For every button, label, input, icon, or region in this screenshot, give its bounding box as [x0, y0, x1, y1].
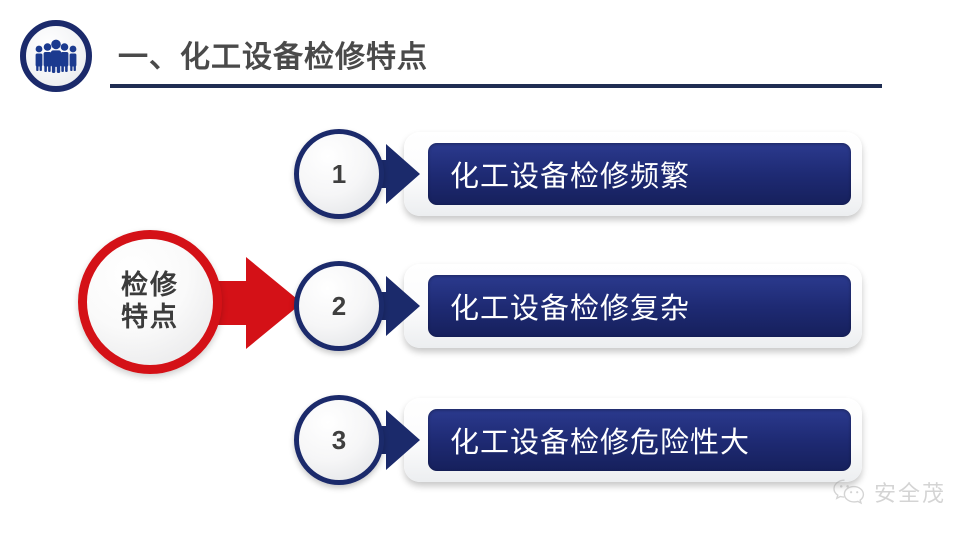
- item-bar-frame: 化工设备检修复杂: [404, 264, 862, 348]
- item-number-circle: 3: [294, 395, 384, 485]
- badge-line-1: 检修: [121, 270, 179, 302]
- item-number-circle: 2: [294, 261, 384, 351]
- item-bar: 化工设备检修危险性大: [428, 409, 851, 471]
- item-number: 3: [332, 425, 346, 456]
- item-bar: 化工设备检修频繁: [428, 143, 851, 205]
- item-label: 化工设备检修复杂: [450, 285, 690, 327]
- list-item[interactable]: 化工设备检修复杂 2: [292, 258, 862, 354]
- header-divider: [110, 84, 882, 88]
- page-title: 一、化工设备检修特点: [118, 32, 428, 76]
- item-number: 1: [332, 159, 346, 190]
- item-label: 化工设备检修危险性大: [450, 419, 750, 461]
- summary-badge: 检修 特点: [78, 228, 318, 378]
- item-label: 化工设备检修频繁: [450, 153, 690, 195]
- watermark-text: 安全茂: [874, 476, 946, 508]
- list-item[interactable]: 化工设备检修危险性大 3: [292, 392, 862, 488]
- item-number: 2: [332, 291, 346, 322]
- slide-canvas: 一、化工设备检修特点 检修 特点 化工设备检修频繁 1 化工设备检修复杂: [0, 0, 960, 540]
- badge-circle: 检修 特点: [78, 230, 222, 374]
- people-group-icon: [20, 20, 92, 92]
- wechat-logo-icon: [832, 478, 866, 506]
- item-bar-frame: 化工设备检修频繁: [404, 132, 862, 216]
- badge-line-2: 特点: [121, 302, 179, 334]
- watermark: 安全茂: [832, 476, 946, 508]
- item-bar: 化工设备检修复杂: [428, 275, 851, 337]
- item-number-circle: 1: [294, 129, 384, 219]
- item-bar-frame: 化工设备检修危险性大: [404, 398, 862, 482]
- list-item[interactable]: 化工设备检修频繁 1: [292, 126, 862, 222]
